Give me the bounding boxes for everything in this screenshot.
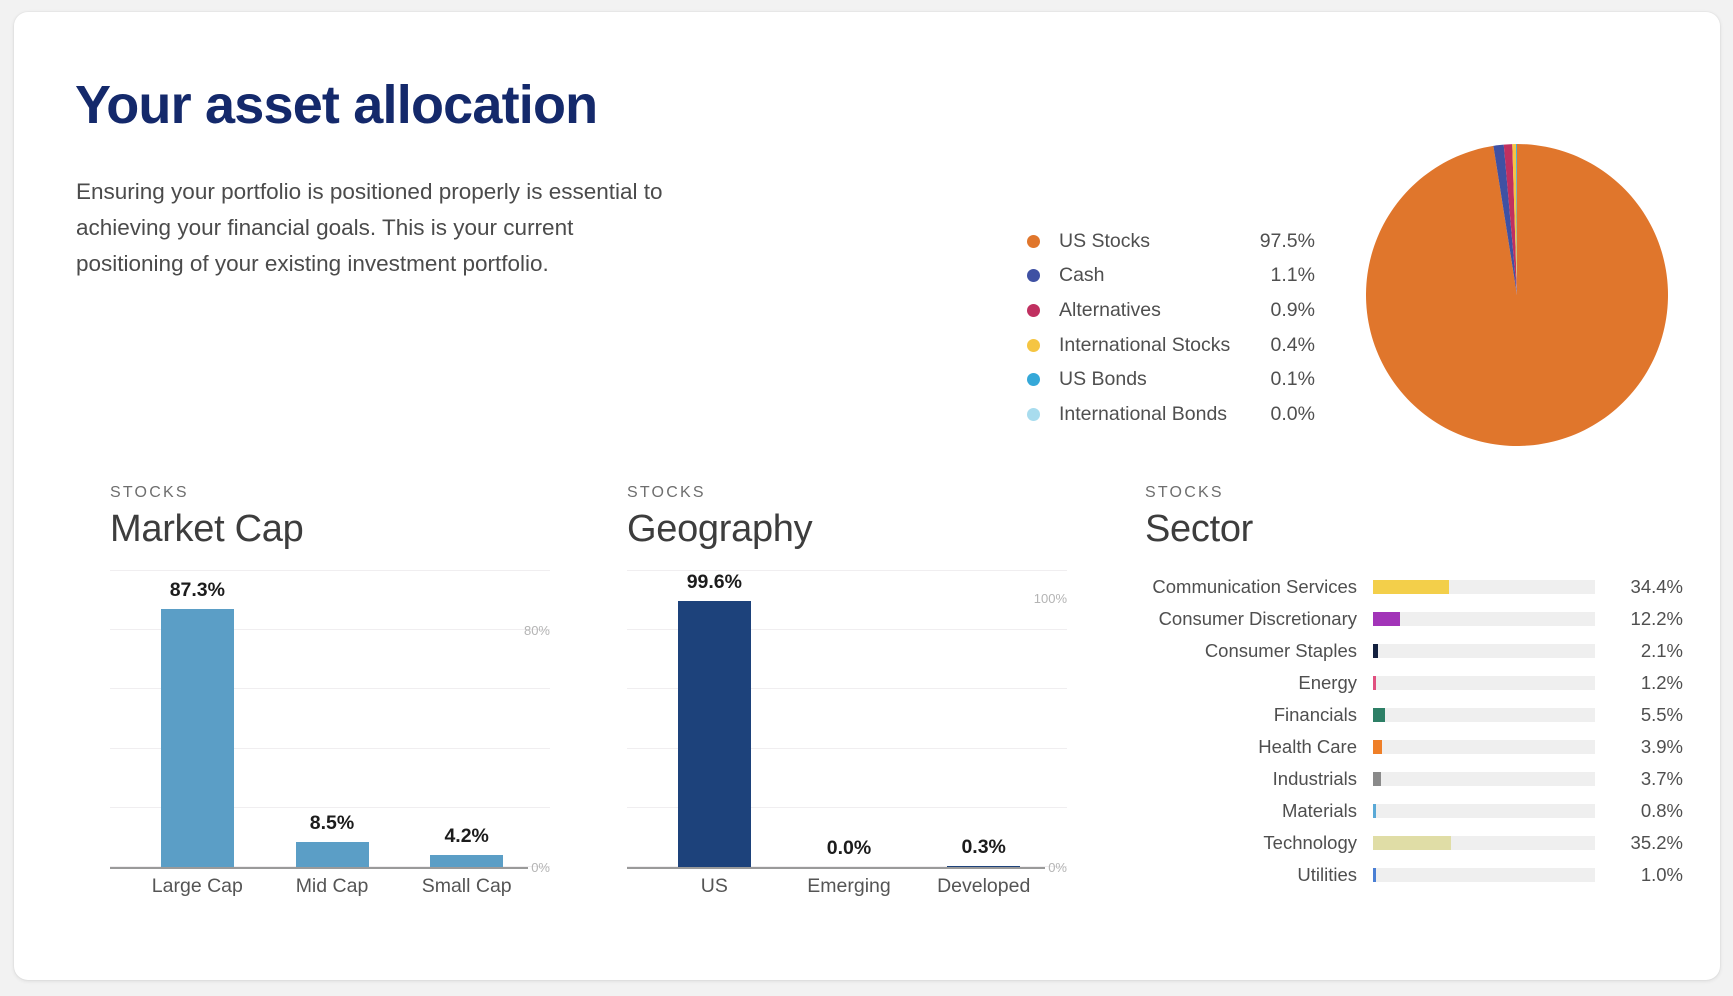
legend-value: 97.5% [1260,230,1315,253]
sector-row[interactable]: Energy1.2% [1145,667,1685,699]
axis-tick-label: 0% [531,860,550,875]
legend-label: Cash [1059,264,1105,287]
legend-row: Alternatives0.9% [1027,293,1315,328]
sector-bar-fill [1373,580,1449,594]
sector-row[interactable]: Consumer Discretionary12.2% [1145,603,1685,635]
market-cap-chart: 80%0%87.3%8.5%4.2%Large CapMid CapSmall … [110,569,550,869]
sector-value-label: 1.0% [1623,864,1683,886]
sector-bar-fill [1373,612,1400,626]
bar-value-label: 99.6% [687,571,742,594]
sector-value-label: 3.9% [1623,736,1683,758]
sector-name-label: Consumer Discretionary [1145,608,1373,630]
sector-row[interactable]: Financials5.5% [1145,699,1685,731]
sector-bar-track [1373,836,1595,850]
bar-column[interactable]: 0.3% [916,571,1051,867]
sector-name-label: Materials [1145,800,1373,822]
sector-bar-fill [1373,708,1385,722]
pie-legend: US Stocks97.5%Cash1.1%Alternatives0.9%In… [1027,224,1315,432]
category-label: Large Cap [130,875,265,898]
sector-value-label: 35.2% [1623,832,1683,854]
axis-tick-label: 0% [1048,860,1067,875]
sector-value-label: 1.2% [1623,672,1683,694]
sector-bar-fill [1373,836,1451,850]
sector-name-label: Communication Services [1145,576,1373,598]
bar-rect[interactable] [430,855,503,867]
legend-label: Alternatives [1059,299,1161,322]
sector-value-label: 0.8% [1623,800,1683,822]
bar-value-label: 0.0% [827,837,871,860]
category-labels: USEmergingDeveloped [647,875,1051,898]
sector-value-label: 34.4% [1623,576,1683,598]
legend-row: Cash1.1% [1027,259,1315,294]
sector-value-label: 12.2% [1623,608,1683,630]
asset-allocation-card: Your asset allocation Ensuring your port… [14,12,1720,980]
bar-column[interactable]: 99.6% [647,571,782,867]
sector-bar-fill [1373,676,1376,690]
sector-value-label: 2.1% [1623,640,1683,662]
sector-bar-fill [1373,644,1378,658]
legend-value: 0.9% [1271,299,1315,322]
panel-title: Sector [1145,508,1685,551]
bar-column[interactable]: 0.0% [782,571,917,867]
panel-eyebrow: STOCKS [627,484,1067,502]
legend-row: US Bonds0.1% [1027,362,1315,397]
legend-label: International Bonds [1059,403,1227,426]
bar-value-label: 8.5% [310,812,354,835]
sector-row[interactable]: Industrials3.7% [1145,763,1685,795]
sector-bar-list: Communication Services34.4%Consumer Disc… [1145,571,1685,891]
bar-group: 99.6%0.0%0.3% [647,571,1051,867]
legend-value: 1.1% [1271,264,1315,287]
bar-rect[interactable] [947,866,1020,867]
sector-row[interactable]: Communication Services34.4% [1145,571,1685,603]
sector-bar-fill [1373,740,1382,754]
sector-bar-track [1373,772,1595,786]
sector-name-label: Industrials [1145,768,1373,790]
bar-rect[interactable] [161,609,234,867]
legend-color-dot-icon [1027,304,1040,317]
legend-label: International Stocks [1059,334,1230,357]
panel-market-cap: STOCKS Market Cap 80%0%87.3%8.5%4.2%Larg… [110,484,550,869]
sector-name-label: Health Care [1145,736,1373,758]
bar-value-label: 4.2% [444,825,488,848]
bar-group: 87.3%8.5%4.2% [130,571,534,867]
x-axis-line [110,867,528,869]
category-label: Developed [916,875,1051,898]
panel-sector: STOCKS Sector Communication Services34.4… [1145,484,1685,891]
sector-row[interactable]: Materials0.8% [1145,795,1685,827]
legend-row: International Bonds0.0% [1027,397,1315,432]
legend-value: 0.4% [1271,334,1315,357]
geography-chart: 100%0%99.6%0.0%0.3%USEmergingDeveloped [627,569,1067,869]
sector-row[interactable]: Health Care3.9% [1145,731,1685,763]
sector-bar-fill [1373,868,1376,882]
sector-bar-track [1373,708,1595,722]
sector-bar-fill [1373,804,1376,818]
legend-value: 0.0% [1271,403,1315,426]
page-title: Your asset allocation [75,74,597,136]
bar-rect[interactable] [678,601,751,867]
legend-label: US Stocks [1059,230,1150,253]
panel-title: Geography [627,508,1067,551]
sector-row[interactable]: Utilities1.0% [1145,859,1685,891]
legend-label: US Bonds [1059,368,1147,391]
sector-value-label: 3.7% [1623,768,1683,790]
category-labels: Large CapMid CapSmall Cap [130,875,534,898]
pie-svg [1366,144,1668,446]
category-label: Small Cap [399,875,534,898]
legend-color-dot-icon [1027,373,1040,386]
sector-row[interactable]: Consumer Staples2.1% [1145,635,1685,667]
legend-row: International Stocks0.4% [1027,328,1315,363]
sector-name-label: Consumer Staples [1145,640,1373,662]
sector-name-label: Technology [1145,832,1373,854]
category-label: Emerging [782,875,917,898]
bar-column[interactable]: 87.3% [130,571,265,867]
panel-geography: STOCKS Geography 100%0%99.6%0.0%0.3%USEm… [627,484,1067,869]
panel-title: Market Cap [110,508,550,551]
panel-eyebrow: STOCKS [1145,484,1685,502]
legend-color-dot-icon [1027,269,1040,282]
bar-value-label: 87.3% [170,579,225,602]
sector-value-label: 5.5% [1623,704,1683,726]
bar-column[interactable]: 4.2% [399,571,534,867]
bar-rect[interactable] [296,842,369,867]
legend-value: 0.1% [1271,368,1315,391]
legend-color-dot-icon [1027,408,1040,421]
sector-name-label: Energy [1145,672,1373,694]
sector-bar-track [1373,612,1595,626]
sector-bar-track [1373,676,1595,690]
panel-eyebrow: STOCKS [110,484,550,502]
sector-bar-track [1373,644,1595,658]
legend-row: US Stocks97.5% [1027,224,1315,259]
bar-value-label: 0.3% [961,836,1005,859]
sector-bar-track [1373,868,1595,882]
x-axis-line [627,867,1045,869]
sector-name-label: Utilities [1145,864,1373,886]
sector-name-label: Financials [1145,704,1373,726]
category-label: Mid Cap [265,875,400,898]
intro-paragraph: Ensuring your portfolio is positioned pr… [76,174,686,282]
sector-bar-track [1373,804,1595,818]
legend-color-dot-icon [1027,339,1040,352]
sector-bar-track [1373,580,1595,594]
sector-bar-track [1373,740,1595,754]
category-label: US [647,875,782,898]
allocation-pie-chart [1366,144,1668,446]
bar-column[interactable]: 8.5% [265,571,400,867]
legend-color-dot-icon [1027,235,1040,248]
sector-bar-fill [1373,772,1381,786]
sector-row[interactable]: Technology35.2% [1145,827,1685,859]
